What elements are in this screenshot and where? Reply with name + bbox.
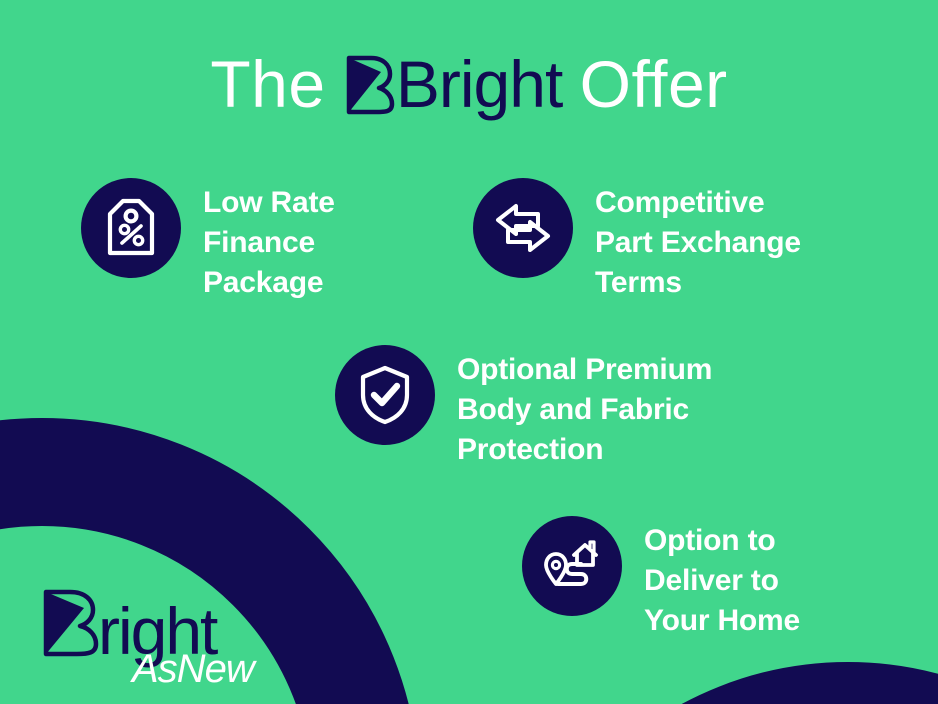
feature-icon-badge: [81, 178, 181, 278]
feature-icon-badge: [473, 178, 573, 278]
decorative-ring-right: [498, 662, 938, 704]
shield-check-icon: [356, 364, 414, 426]
feature-item-home-delivery: Option to Deliver to Your Home: [522, 516, 800, 641]
title-brand: Bright: [326, 47, 580, 121]
brand-logo: right AsNew: [40, 578, 290, 686]
feature-icon-badge: [335, 345, 435, 445]
map-pin-road-house-icon: [540, 536, 604, 596]
feature-label: Optional Premium Body and Fabric Protect…: [457, 350, 712, 470]
feature-item-body-fabric-protection: Optional Premium Body and Fabric Protect…: [335, 345, 712, 470]
title-prefix: The: [210, 47, 325, 121]
feature-item-part-exchange: Competitive Part Exchange Terms: [473, 178, 801, 303]
offer-poster: The Bright Offer Low Rate Financ: [0, 0, 938, 704]
title-suffix: Offer: [580, 47, 728, 121]
bright-b-mark-icon: [343, 54, 395, 131]
feature-label: Competitive Part Exchange Terms: [595, 183, 801, 303]
title-brand-text: Bright: [396, 47, 562, 121]
feature-label: Low Rate Finance Package: [203, 183, 335, 303]
feature-icon-badge: [522, 516, 622, 616]
price-tag-percent-icon: [102, 197, 160, 259]
logo-secondary-text: AsNew: [130, 647, 258, 686]
logo-bright-mark: [46, 592, 96, 654]
page-title: The Bright Offer: [0, 46, 938, 131]
exchange-arrows-icon: [492, 199, 554, 257]
feature-label: Option to Deliver to Your Home: [644, 521, 800, 641]
feature-item-low-rate-finance: Low Rate Finance Package: [81, 178, 335, 303]
